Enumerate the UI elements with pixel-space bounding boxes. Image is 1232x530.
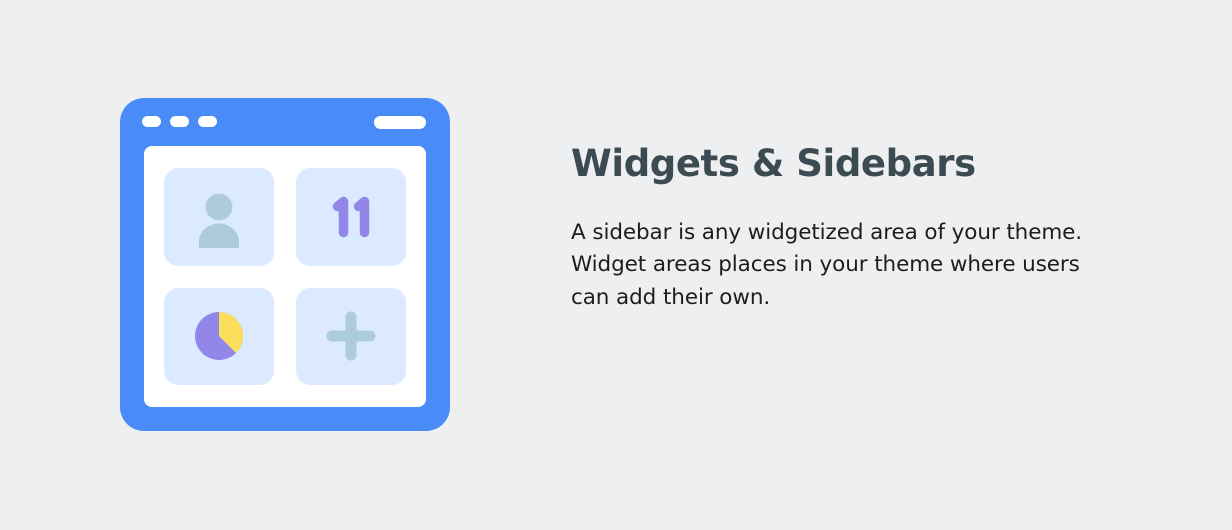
widget-tile-grid bbox=[164, 168, 406, 385]
widget-tile-add[interactable] bbox=[296, 288, 406, 386]
counter-eleven-icon bbox=[320, 186, 382, 248]
window-dot-2-icon bbox=[170, 116, 189, 127]
user-avatar-icon bbox=[188, 186, 250, 248]
pie-chart-icon bbox=[188, 305, 250, 367]
widget-tile-pie-chart[interactable] bbox=[164, 288, 274, 386]
browser-titlebar bbox=[120, 98, 450, 146]
address-bar-pill-icon bbox=[374, 116, 426, 129]
plus-icon bbox=[320, 305, 382, 367]
page-root: Widgets & Sidebars A sidebar is any widg… bbox=[0, 0, 1232, 530]
text-column: Widgets & Sidebars A sidebar is any widg… bbox=[571, 143, 1111, 315]
widgets-illustration bbox=[120, 98, 450, 431]
window-dot-1-icon bbox=[142, 116, 161, 127]
page-title: Widgets & Sidebars bbox=[571, 143, 1111, 186]
window-controls bbox=[142, 116, 217, 127]
widget-tile-user[interactable] bbox=[164, 168, 274, 266]
page-description: A sidebar is any widgetized area of your… bbox=[571, 186, 1111, 315]
browser-viewport bbox=[144, 146, 426, 407]
browser-window-frame bbox=[120, 98, 450, 431]
widget-tile-counter[interactable] bbox=[296, 168, 406, 266]
window-dot-3-icon bbox=[198, 116, 217, 127]
